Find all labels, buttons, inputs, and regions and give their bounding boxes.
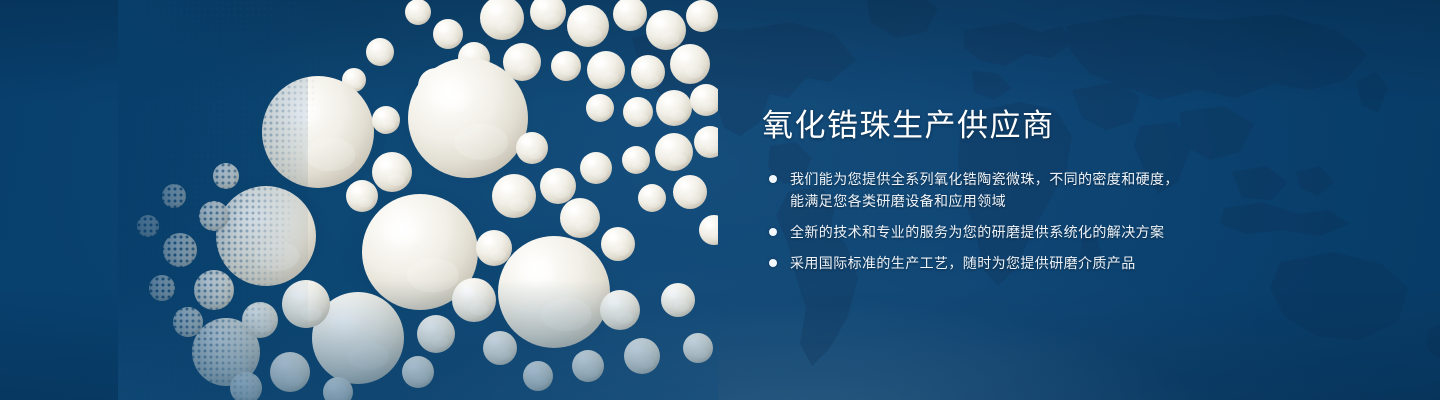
bullet-dot-icon <box>769 175 777 183</box>
bullet-dot-icon <box>769 259 777 267</box>
bullet-line-1: 采用国际标准的生产工艺，随时为您提供研磨介质产品 <box>790 252 1232 274</box>
banner-headline: 氧化锆珠生产供应商 <box>762 106 1232 146</box>
hero-banner: 氧化锆珠生产供应商 我们能为您提供全系列氧化锆陶瓷微珠，不同的密度和硬度， 能满… <box>0 0 1440 400</box>
bullet-line-1: 我们能为您提供全系列氧化锆陶瓷微珠，不同的密度和硬度， <box>790 168 1232 190</box>
list-item: 全新的技术和专业的服务为您的研磨提供系统化的解决方案 <box>762 221 1232 243</box>
bullet-dot-icon <box>769 228 777 236</box>
bullet-line-2: 能满足您各类研磨设备和应用领域 <box>790 190 1232 212</box>
banner-copy-block: 氧化锆珠生产供应商 我们能为您提供全系列氧化锆陶瓷微珠，不同的密度和硬度， 能满… <box>762 106 1232 274</box>
bullet-line-1: 全新的技术和专业的服务为您的研磨提供系统化的解决方案 <box>790 221 1232 243</box>
list-item: 我们能为您提供全系列氧化锆陶瓷微珠，不同的密度和硬度， 能满足您各类研磨设备和应… <box>762 168 1232 212</box>
list-item: 采用国际标准的生产工艺，随时为您提供研磨介质产品 <box>762 252 1232 274</box>
banner-feature-list: 我们能为您提供全系列氧化锆陶瓷微珠，不同的密度和硬度， 能满足您各类研磨设备和应… <box>762 168 1232 274</box>
